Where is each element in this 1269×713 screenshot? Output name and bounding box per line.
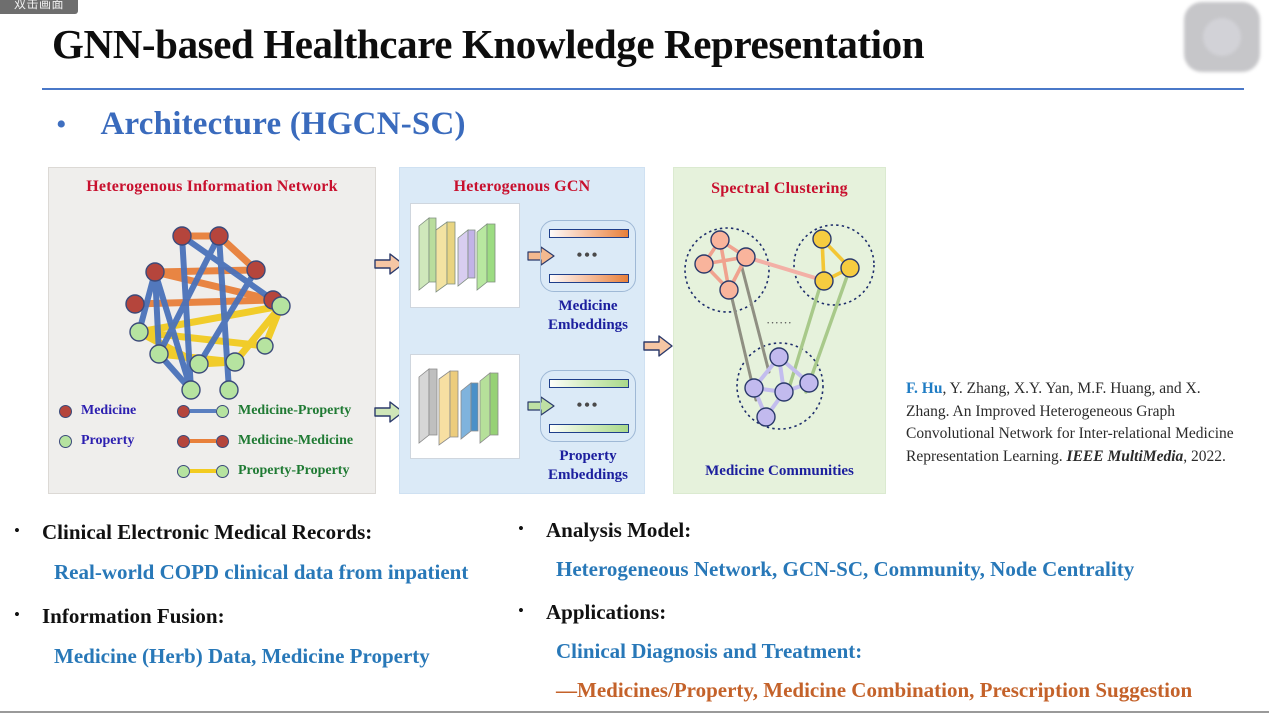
citation-venue: IEEE MultiMedia — [1067, 448, 1184, 465]
page-title: GNN-based Healthcare Knowledge Represent… — [52, 20, 1172, 68]
medicine-node-icon — [216, 435, 229, 448]
citation-author-highlight: F. Hu — [906, 380, 942, 397]
bullet-item: • Analysis Model: — [518, 516, 1258, 544]
bullet-heading: Applications: — [546, 598, 666, 626]
hin-graph-svg — [49, 194, 375, 424]
bullet-subtext: Clinical Diagnosis and Treatment: — [556, 637, 1258, 665]
panel-gcn-heading: Heterogenous GCN — [400, 178, 644, 196]
property-embeddings-group: ••• Property Embeddings — [540, 370, 636, 485]
gcn-stack-property-box — [410, 354, 520, 459]
slide-canvas: 双击画面 GNN-based Healthcare Knowledge Repr… — [0, 0, 1269, 713]
embedding-bar — [549, 424, 629, 433]
bullet-dot-icon: • — [518, 598, 546, 624]
panel-spectral-heading: Spectral Clustering — [674, 180, 885, 198]
legend-label: Medicine-Medicine — [238, 433, 353, 449]
legend-row: Medicine Medicine-Property — [59, 396, 367, 426]
caption-line: Embeddings — [540, 466, 636, 485]
flow-arrow-gcn-to-spectral-icon — [643, 334, 673, 358]
bullet-subtext: Medicine (Herb) Data, Medicine Property — [54, 642, 526, 670]
caption-line: Medicine — [540, 297, 636, 316]
property-node-icon — [177, 465, 190, 478]
panel-heterogenous-gcn: Heterogenous GCN — [399, 167, 645, 494]
citation-block: F. Hu, Y. Zhang, X.Y. Yan, M.F. Huang, a… — [906, 378, 1242, 468]
panel-spectral-clustering: Spectral Clustering — [673, 167, 886, 494]
bullet-item: • Clinical Electronic Medical Records: — [14, 518, 526, 546]
citation-year: , 2022. — [1183, 448, 1226, 465]
legend-label: Medicine-Property — [238, 403, 351, 419]
gcn-stack-medicine-icon — [411, 204, 519, 307]
bullet-subtext-secondary: —Medicines/Property, Medicine Combinatio… — [556, 676, 1258, 704]
hin-legend: Medicine Medicine-Property Property — [59, 396, 367, 486]
bullet-heading: Analysis Model: — [546, 516, 691, 544]
subtitle-bullet-icon: • — [56, 110, 67, 140]
spectral-clusters-svg: ······ — [674, 202, 885, 457]
legend-edge-medicine-medicine: Medicine-Medicine — [177, 433, 353, 449]
legend-label: Property — [81, 433, 134, 449]
property-node-icon — [216, 465, 229, 478]
gcn-stack-property-icon — [411, 355, 519, 458]
panel-heterogenous-information-network: Heterogenous Information Network — [48, 167, 376, 494]
legend-row: Property Medicine-Medicine — [59, 426, 367, 456]
watermark-logo-icon — [1184, 2, 1260, 72]
legend-label: Medicine — [81, 403, 136, 419]
bullet-subtext: Real-world COPD clinical data from inpat… — [54, 558, 526, 586]
bullet-subtext: Heterogeneous Network, GCN-SC, Community… — [556, 555, 1258, 583]
bullet-item: • Applications: — [518, 598, 1258, 626]
bullets-left-column: • Clinical Electronic Medical Records: R… — [14, 518, 526, 670]
legend-edge-property-property: Property-Property — [177, 463, 349, 479]
medicine-embeddings-group: ••• Medicine Embeddings — [540, 220, 636, 335]
bullet-heading: Information Fusion: — [42, 602, 225, 630]
caption-line: Embeddings — [540, 316, 636, 335]
subtitle-text: Architecture (HGCN-SC) — [101, 106, 466, 143]
medicine-node-icon — [177, 435, 190, 448]
bullet-dot-icon: • — [518, 516, 546, 542]
subtitle-row: • Architecture (HGCN-SC) — [56, 106, 466, 143]
medicine-embeddings-caption: Medicine Embeddings — [540, 297, 636, 335]
player-hint-label: 双击画面 — [0, 0, 78, 14]
legend-node-medicine: Medicine — [59, 403, 177, 419]
bullets-right-column: • Analysis Model: Heterogeneous Network,… — [518, 516, 1258, 704]
embedding-bar — [549, 274, 629, 283]
edge-line-icon — [190, 469, 216, 473]
edge-line-icon — [190, 409, 216, 413]
legend-edge-medicine-property: Medicine-Property — [177, 403, 351, 419]
caption-line: Property — [540, 447, 636, 466]
bullet-dot-icon: • — [14, 518, 42, 544]
embedding-bar — [549, 379, 629, 388]
edge-line-icon — [190, 439, 216, 443]
spectral-caption: Medicine Communities — [674, 463, 885, 480]
property-embeddings-caption: Property Embeddings — [540, 447, 636, 485]
legend-row: Property-Property — [59, 456, 367, 486]
title-divider — [42, 88, 1244, 90]
bullet-item: • Information Fusion: — [14, 602, 526, 630]
embedding-bar — [549, 229, 629, 238]
gcn-stack-medicine-box — [410, 203, 520, 308]
property-embeddings-bracket: ••• — [540, 370, 636, 442]
bullet-dot-icon: • — [14, 602, 42, 628]
medicine-embeddings-bracket: ••• — [540, 220, 636, 292]
property-node-icon — [59, 435, 72, 448]
legend-node-property: Property — [59, 433, 177, 449]
medicine-node-icon — [177, 405, 190, 418]
legend-label: Property-Property — [238, 463, 349, 479]
bullet-heading: Clinical Electronic Medical Records: — [42, 518, 372, 546]
medicine-node-icon — [59, 405, 72, 418]
embedding-ellipsis: ••• — [541, 399, 635, 413]
property-node-icon — [216, 405, 229, 418]
svg-text:······: ······ — [766, 315, 792, 330]
embedding-ellipsis: ••• — [541, 249, 635, 263]
